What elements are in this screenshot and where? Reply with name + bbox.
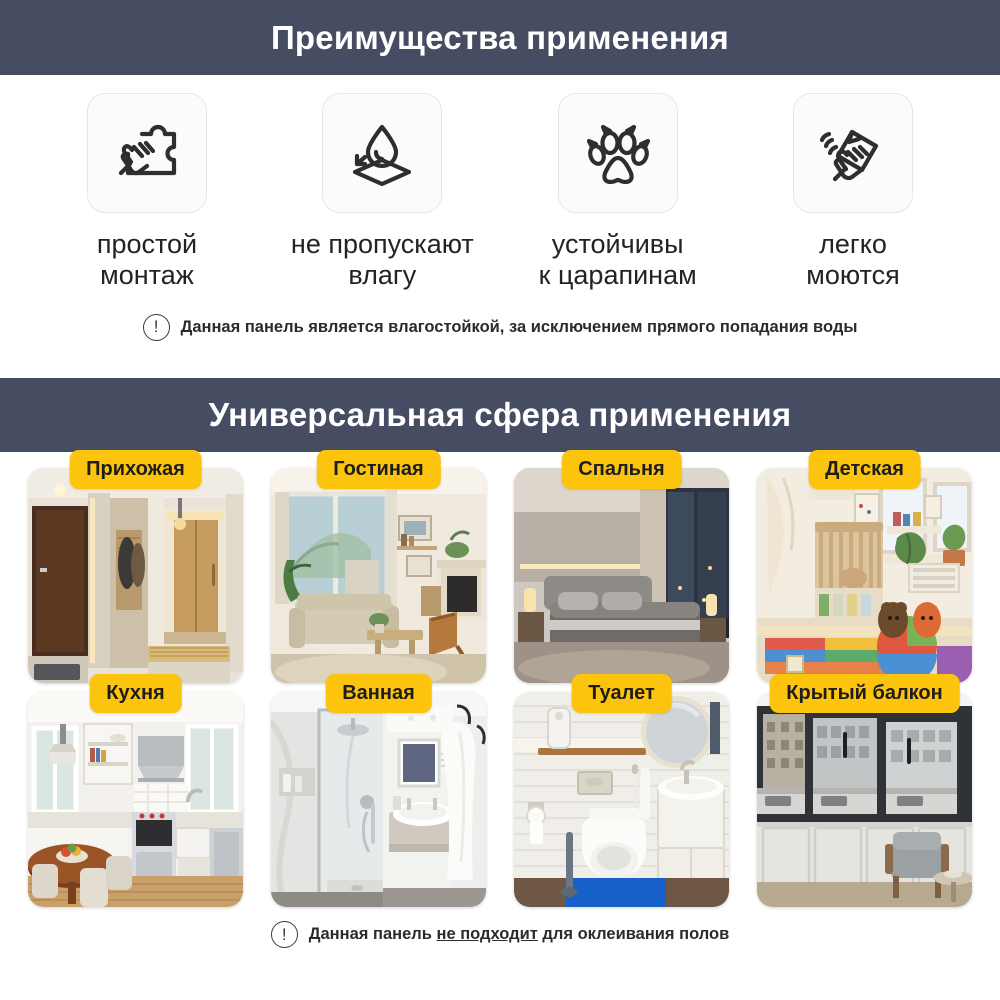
room-photo-hallway <box>28 468 243 683</box>
room-badge-hallway: Прихожая <box>69 450 202 489</box>
room-badge-toilet: Туалет <box>571 674 672 713</box>
benefit-label: легко моются <box>806 229 899 292</box>
room-card-toilet[interactable]: Туалет <box>514 692 729 907</box>
benefit-icon-card <box>87 93 207 213</box>
benefit-item-scratch-resistant: устойчивы к царапинам <box>507 93 729 292</box>
water-droplet-repel-icon <box>343 114 421 192</box>
moisture-note-text: Данная панель является влагостойкой, за … <box>181 318 858 337</box>
floors-note-suffix: для оклеивания полов <box>538 925 729 943</box>
room-badge-bathroom: Ванная <box>325 674 432 713</box>
floors-note-text: Данная панель не подходит для оклеивания… <box>309 925 730 944</box>
benefits-section: простой монтаж не пропускают влагу <box>0 75 1000 378</box>
rooms-row: Кухня <box>28 692 972 907</box>
room-photo-bathroom <box>271 692 486 907</box>
room-photo-bedroom <box>514 468 729 683</box>
benefits-banner-title: Преимущества применения <box>271 19 729 57</box>
floors-note-prefix: Данная панель <box>309 925 437 943</box>
room-card-bathroom[interactable]: Ванная <box>271 692 486 907</box>
room-card-kids-room[interactable]: Детская <box>757 468 972 683</box>
room-photo-toilet <box>514 692 729 907</box>
benefit-label: простой монтаж <box>97 229 197 292</box>
room-card-living-room[interactable]: Гостиная <box>271 468 486 683</box>
scope-banner: Универсальная сфера применения <box>0 378 1000 452</box>
floors-note: ! Данная панель не подходит для оклеиван… <box>28 921 972 948</box>
room-card-balcony[interactable]: Крытый балкон <box>757 692 972 907</box>
benefit-item-easy-clean: легко моются <box>742 93 964 292</box>
room-card-kitchen[interactable]: Кухня <box>28 692 243 907</box>
benefit-label: устойчивы к царапинам <box>539 229 697 292</box>
room-photo-kitchen <box>28 692 243 907</box>
benefit-icon-card <box>558 93 678 213</box>
exclamation-circle-icon: ! <box>271 921 298 948</box>
room-badge-kids-room: Детская <box>808 450 921 489</box>
room-badge-bedroom: Спальня <box>561 450 681 489</box>
benefit-icon-card <box>793 93 913 213</box>
room-badge-kitchen: Кухня <box>89 674 181 713</box>
room-photo-balcony <box>757 692 972 907</box>
room-card-hallway[interactable]: Прихожая <box>28 468 243 683</box>
benefit-label: не пропускают влагу <box>291 229 474 292</box>
room-badge-balcony: Крытый балкон <box>769 674 959 713</box>
benefit-item-waterproof: не пропускают влагу <box>271 93 493 292</box>
benefits-banner: Преимущества применения <box>0 0 1000 75</box>
floors-note-emphasis: не подходит <box>436 925 537 943</box>
benefit-icon-card <box>322 93 442 213</box>
paw-print-icon <box>579 114 657 192</box>
hand-puzzle-icon <box>108 114 186 192</box>
room-card-bedroom[interactable]: Спальня <box>514 468 729 683</box>
benefit-item-installation: простой монтаж <box>36 93 258 292</box>
scope-banner-title: Универсальная сфера применения <box>209 396 792 434</box>
room-photo-kids-room <box>757 468 972 683</box>
room-badge-living-room: Гостиная <box>316 450 440 489</box>
benefits-list: простой монтаж не пропускают влагу <box>0 93 1000 292</box>
hand-wiping-cloth-icon <box>814 114 892 192</box>
moisture-note: ! Данная панель является влагостойкой, з… <box>0 314 1000 341</box>
room-photo-living-room <box>271 468 486 683</box>
rooms-row: Прихожая <box>28 468 972 683</box>
rooms-section: Прихожая <box>0 452 1000 948</box>
exclamation-circle-icon: ! <box>143 314 170 341</box>
